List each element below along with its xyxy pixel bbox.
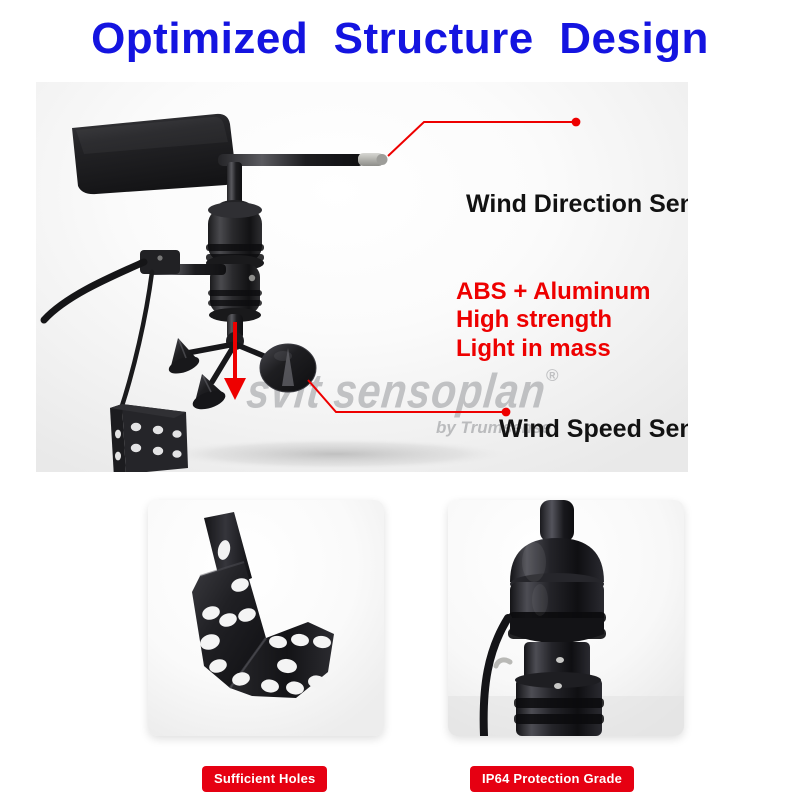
inset-bracket-holes — [148, 500, 384, 736]
collar-screw-upper — [556, 657, 564, 663]
spec-line-mass: Light in mass — [456, 335, 650, 363]
rib-4 — [514, 714, 604, 724]
hero-product-photo: svit sensoplan ® by Trumsense — [36, 82, 688, 472]
leader-line-wind-direction — [388, 122, 576, 156]
spec-line-material: ABS + Aluminum — [456, 278, 650, 306]
top-shaft — [540, 500, 574, 542]
leader-line-wind-speed — [308, 380, 506, 412]
callout-wind-direction-sensor: Wind Direction Sensor — [466, 190, 688, 219]
anemometer-cup-1 — [167, 338, 202, 377]
caption-sufficient-holes: Sufficient Holes — [202, 766, 327, 792]
sensor-cable — [44, 262, 144, 320]
spec-line-strength: High strength — [456, 306, 650, 334]
rib-3 — [514, 698, 604, 708]
anemometer-cup-3 — [260, 344, 316, 392]
sensor-body-closeup-illustration — [448, 500, 684, 736]
leader-dot-wind-direction — [572, 118, 581, 127]
wind-sensor-illustration — [36, 82, 688, 472]
inset-sensor-body — [448, 500, 684, 736]
page-title: Optimized Structure Design — [0, 16, 800, 62]
collar-screw-lower — [554, 683, 562, 689]
caption-ip64-protection-grade: IP64 Protection Grade — [470, 766, 634, 792]
vane-stem — [227, 162, 242, 206]
bracket-support-rod — [120, 272, 152, 412]
anemometer-cup-2 — [190, 374, 227, 413]
material-spec-list: ABS + Aluminum High strength Light in ma… — [456, 278, 650, 363]
product-feature-page: Optimized Structure Design svit sensopla… — [0, 0, 800, 800]
page-title-text: Optimized Structure Design — [91, 16, 709, 62]
body-screw — [249, 275, 255, 281]
mounting-bracket — [110, 404, 188, 472]
bracket-closeup-illustration — [148, 500, 384, 736]
callout-wind-speed-sensor: Wind Speed Sensor — [499, 415, 688, 444]
